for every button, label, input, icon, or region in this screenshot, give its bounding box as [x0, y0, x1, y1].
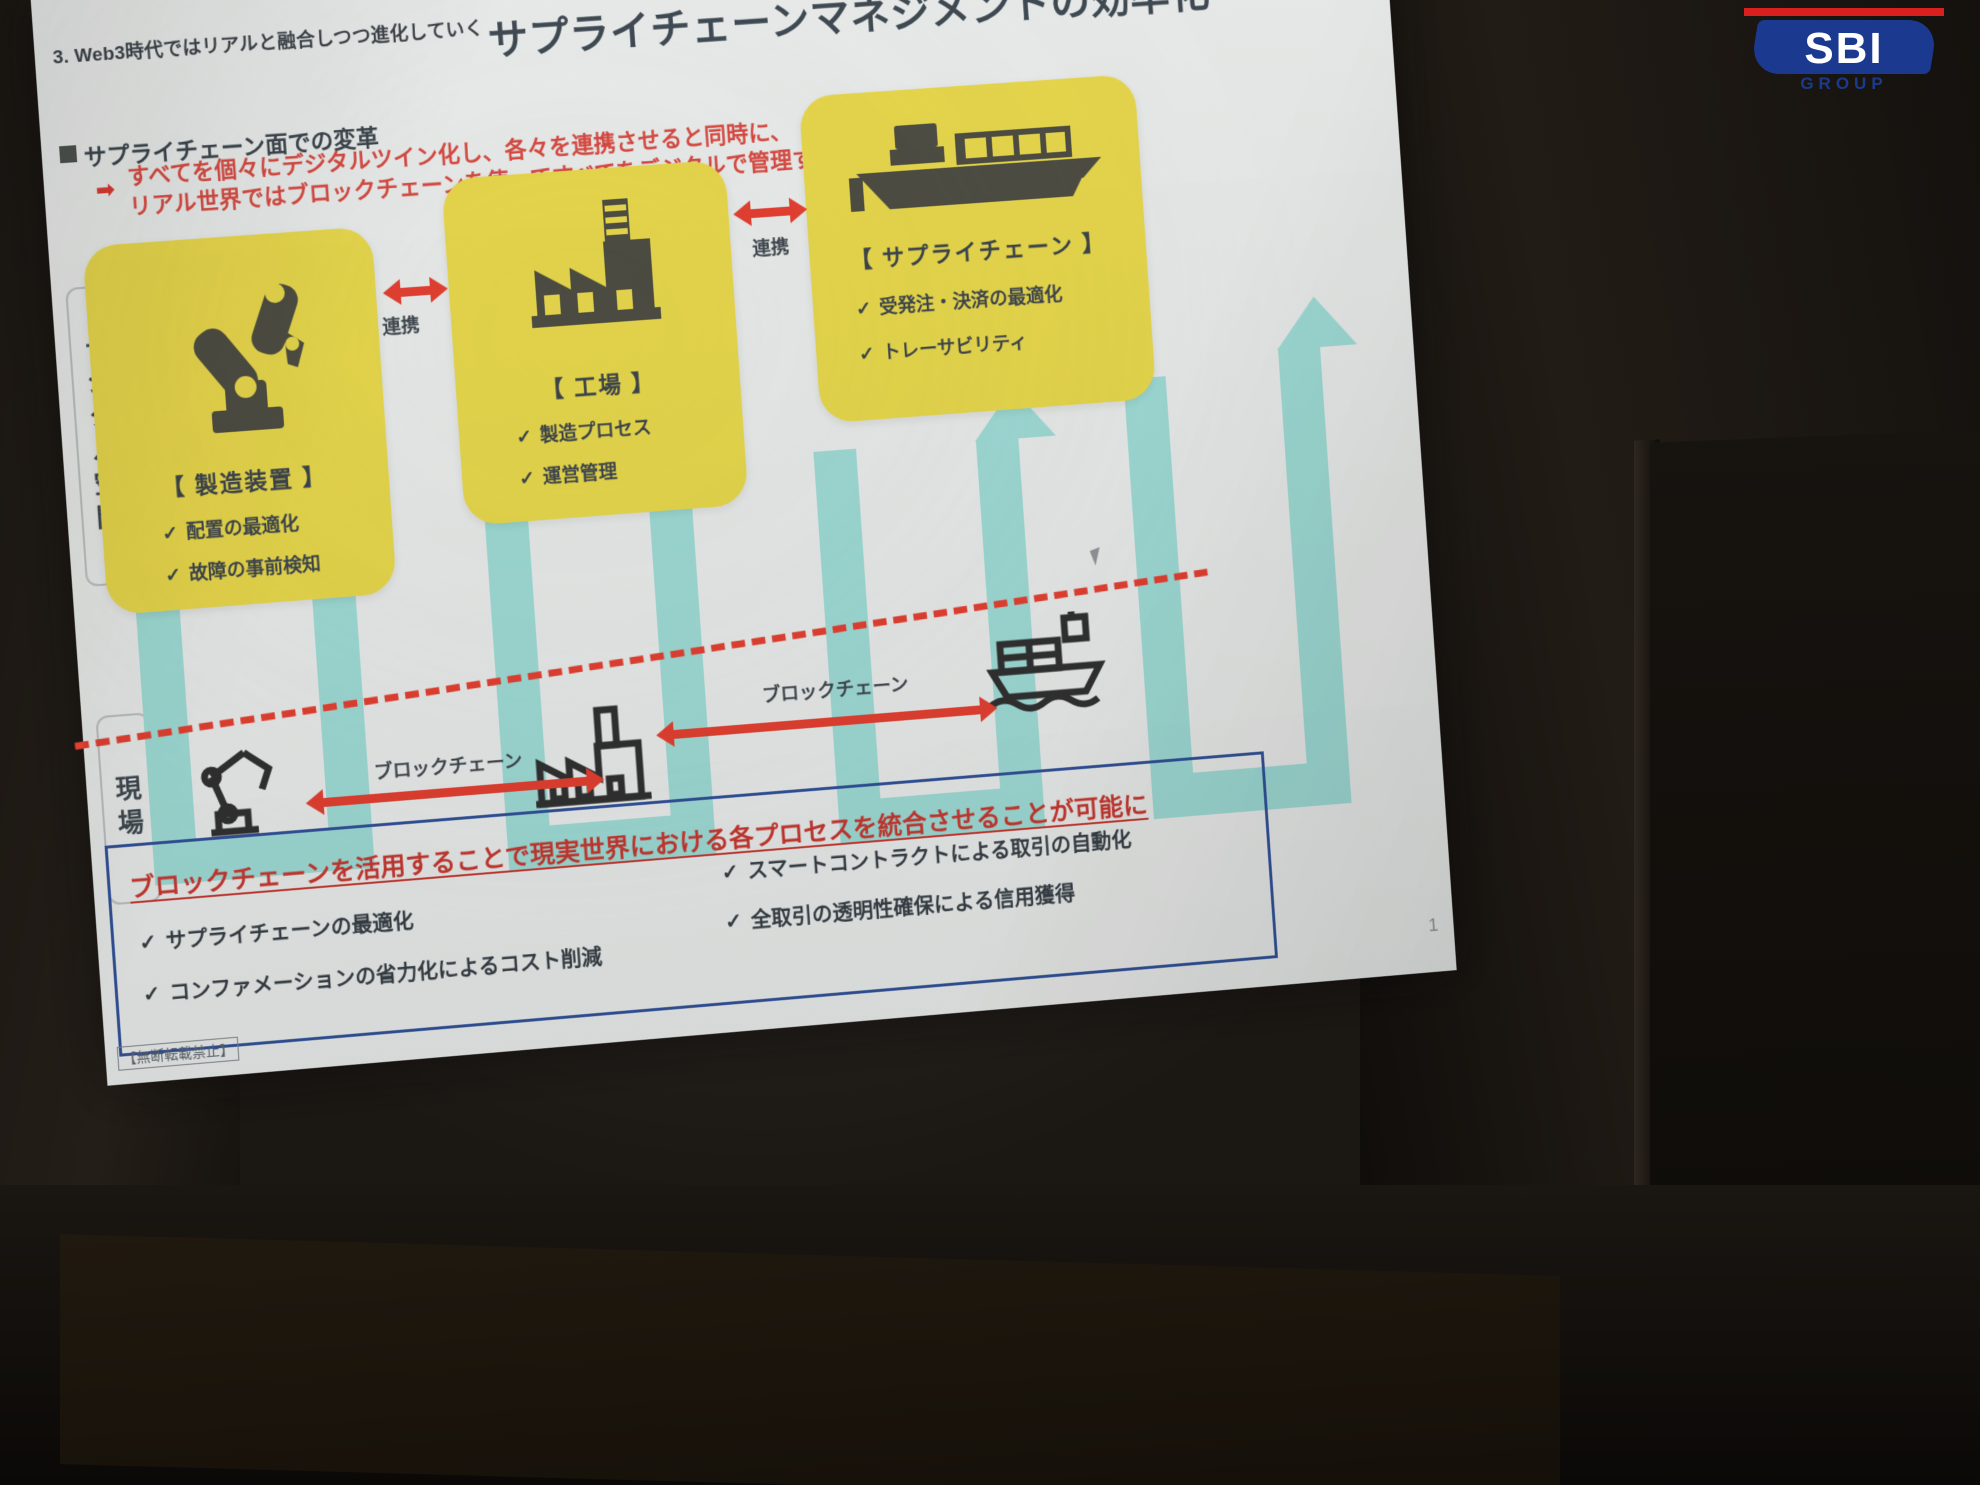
link-arrow-right	[750, 206, 791, 218]
check-icon: ✓	[142, 982, 161, 1006]
check-icon: ✓	[165, 565, 182, 587]
card-manufacturing-equipment[interactable]: 【 製造装置 】 ✓配置の最適化 ✓故障の事前検知	[82, 226, 397, 615]
factory-outline-icon	[526, 700, 661, 819]
card-header: 【 工場 】	[455, 357, 741, 412]
link-arrow-left	[399, 286, 431, 297]
rail-real-label: 現場	[108, 774, 150, 845]
slide: 3. Web3時代ではリアルと融合しつつ進化していく ブロックチェーンによる サ…	[30, 0, 1457, 1086]
mouse-cursor-icon	[1090, 547, 1106, 566]
card-item: ✓運営管理	[518, 457, 618, 491]
projection-screen: 3. Web3時代ではリアルと融合しつつ進化していく ブロックチェーンによる サ…	[30, 0, 1458, 1106]
cargo-ship-outline-icon	[980, 606, 1122, 724]
card-item: ✓製造プロセス	[515, 413, 652, 450]
check-icon: ✓	[516, 427, 533, 449]
blockchain-label-left: ブロックチェーン	[373, 746, 523, 785]
check-icon: ✓	[139, 931, 158, 955]
page-number: 1	[1428, 915, 1440, 937]
slide-title-line2: サプライチェーンマネジメントの効率化	[331, 0, 1361, 77]
check-icon: ✓	[721, 860, 740, 884]
robot-arm-icon	[162, 265, 322, 440]
slide-title: ブロックチェーンによる サプライチェーンマネジメントの効率化	[328, 0, 1362, 77]
check-icon: ✓	[858, 344, 875, 366]
card-header: 【 製造装置 】	[98, 452, 389, 508]
card-item: ✓受発注・決済の最適化	[855, 280, 1063, 322]
blockchain-arrow-right	[673, 705, 982, 739]
card-supply-chain[interactable]: 【 サプライチェーン 】 ✓受発注・決済の最適化 ✓トレーサビリティ	[798, 74, 1156, 424]
sbi-group-logo: SBI GROUP	[1744, 8, 1944, 108]
check-icon: ✓	[724, 910, 743, 934]
check-icon: ✓	[519, 468, 536, 490]
link-arrow-right-label: 連携	[751, 232, 790, 261]
link-arrow-left-label: 連携	[381, 311, 420, 340]
card-item: ✓故障の事前検知	[164, 549, 321, 588]
desk	[60, 1234, 1560, 1485]
factory-icon	[519, 188, 666, 346]
card-factory[interactable]: 【 工場 】 ✓製造プロセス ✓運営管理	[441, 160, 749, 526]
red-arrow-icon: ➡	[95, 177, 115, 204]
cargo-ship-icon	[839, 100, 1108, 236]
check-icon: ✓	[855, 298, 872, 320]
logo-subtext: GROUP	[1744, 74, 1944, 94]
card-item: ✓トレーサビリティ	[858, 327, 1028, 366]
bullet-square-icon	[59, 145, 77, 163]
logo-red-bar	[1744, 8, 1944, 16]
card-item: ✓配置の最適化	[161, 509, 299, 546]
logo-wordmark: SBI	[1744, 24, 1944, 74]
check-icon: ✓	[162, 523, 179, 545]
